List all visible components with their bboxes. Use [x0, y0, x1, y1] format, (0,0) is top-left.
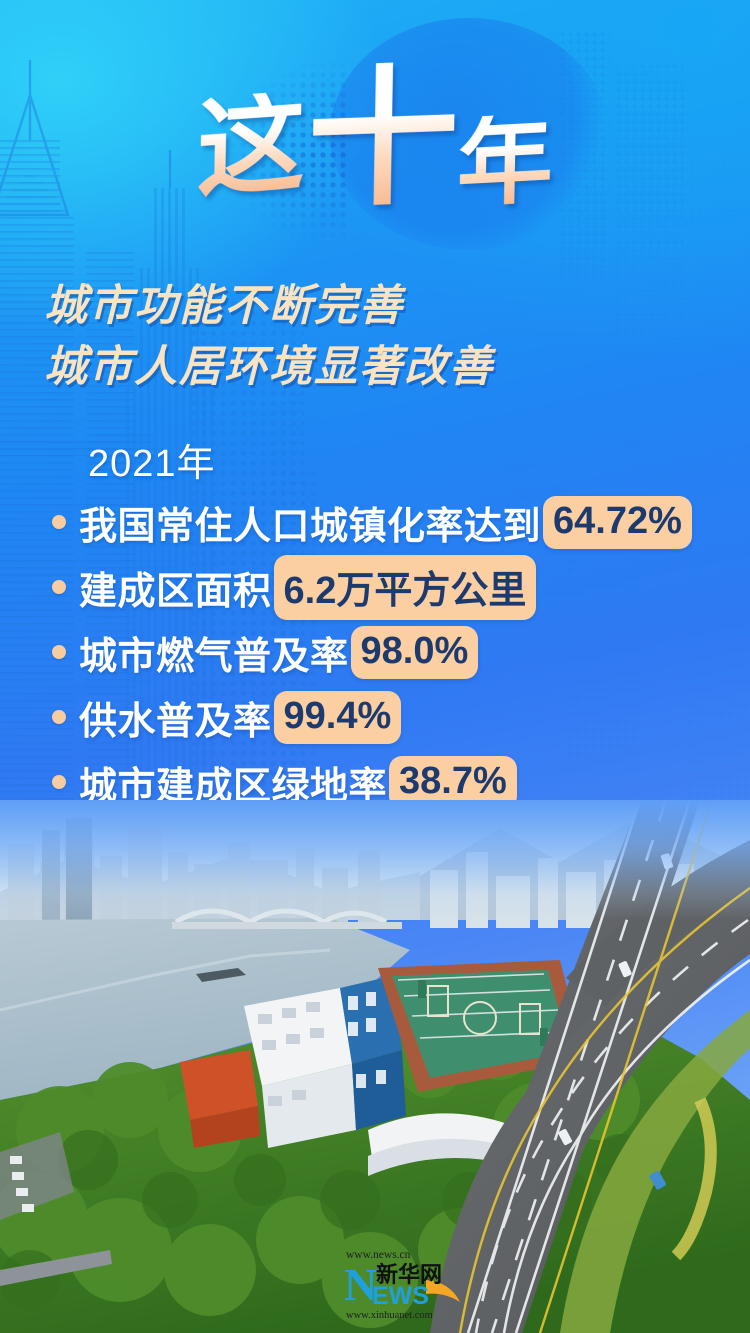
year-label: 2021年 — [88, 432, 216, 487]
list-item: 供水普及率 99.4% — [52, 687, 742, 747]
logo-cn-name: 新华网 — [376, 1262, 442, 1287]
stat-label: 供水普及率 — [79, 690, 272, 745]
stat-value: 64.72% — [543, 496, 692, 549]
bullet-dot-icon — [52, 710, 66, 724]
hero-title: 这 十 年 — [0, 44, 750, 234]
stat-label: 建成区面积 — [79, 560, 272, 615]
infographic-poster: 这 十 年 城市功能不断完善 城市人居环境显著改善 2021年 我国常住人口城镇… — [0, 0, 750, 1333]
bullet-dot-icon — [52, 645, 66, 659]
bullet-dot-icon — [52, 580, 66, 594]
stat-label: 我国常住人口城镇化率达到 — [79, 495, 541, 550]
stat-value: 98.0% — [351, 626, 479, 679]
list-item: 我国常住人口城镇化率达到 64.72% — [52, 492, 742, 552]
hero-char-2: 十 — [306, 60, 457, 217]
hero-char-1: 这 — [196, 90, 306, 206]
stat-row-text: 供水普及率 99.4% — [79, 690, 401, 745]
list-item: 城市燃气普及率 98.0% — [52, 622, 742, 682]
bullet-dot-icon — [52, 515, 66, 529]
hero-char-3: 年 — [456, 112, 554, 213]
stat-row-text: 我国常住人口城镇化率达到 64.72% — [79, 495, 692, 550]
stat-value: 6.2万平方公里 — [274, 555, 537, 620]
headline-line-1: 城市功能不断完善 — [44, 276, 724, 337]
headline-block: 城市功能不断完善 城市人居环境显著改善 — [44, 276, 724, 398]
headline-line-2: 城市人居环境显著改善 — [44, 337, 724, 398]
stat-value: 99.4% — [274, 691, 402, 744]
stat-label: 城市燃气普及率 — [79, 625, 349, 680]
bullet-dot-icon — [52, 775, 66, 789]
logo-bottom-url: www.xinhuanet.com — [346, 1310, 433, 1321]
xinhua-logo[interactable]: www.news.cn N EWS 新华网 www.xinhuanet.com — [342, 1246, 482, 1324]
stat-row-text: 建成区面积 6.2万平方公里 — [79, 555, 536, 620]
list-item: 建成区面积 6.2万平方公里 — [52, 557, 742, 617]
stat-row-text: 城市燃气普及率 98.0% — [79, 625, 478, 680]
